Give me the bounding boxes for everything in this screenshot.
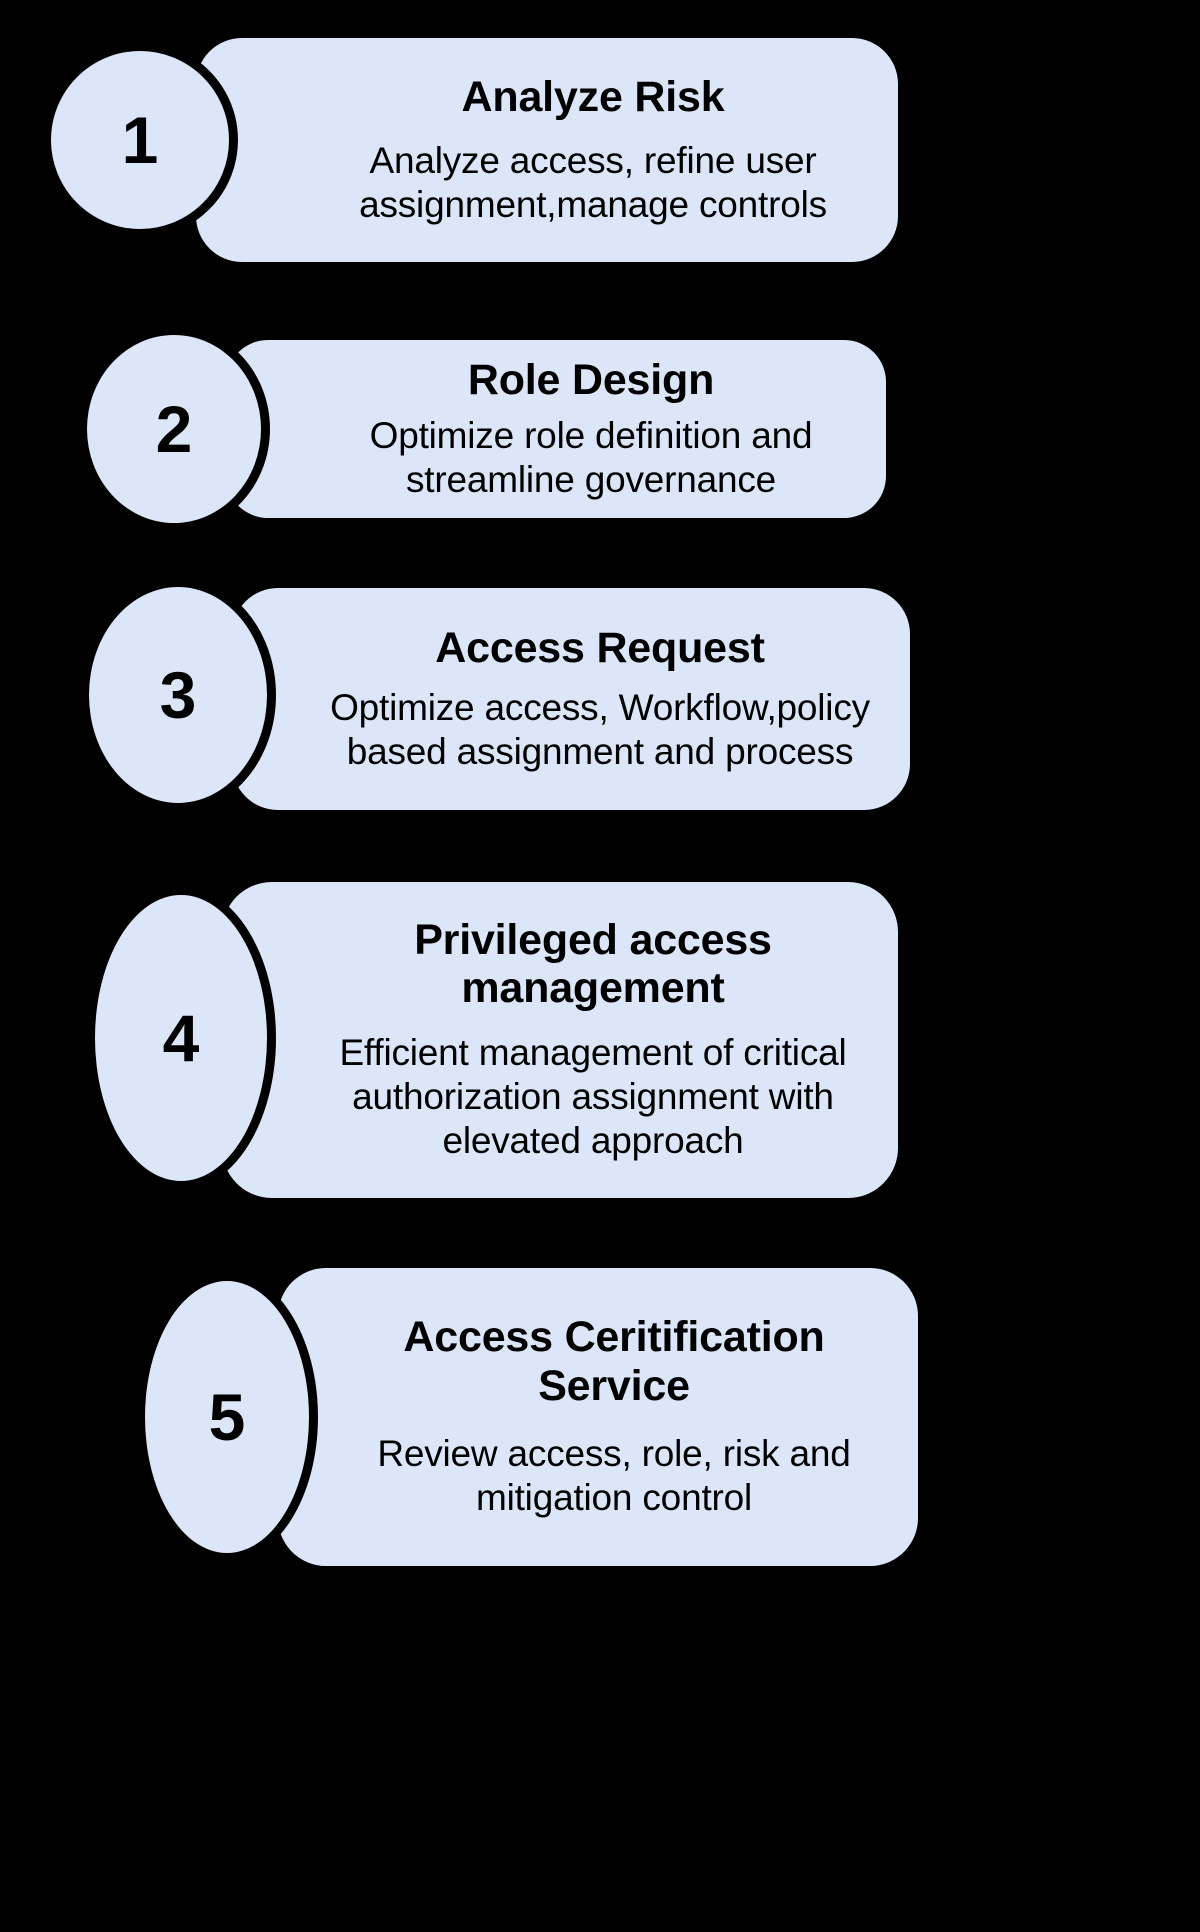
step-number-4: 4: [163, 1005, 200, 1071]
step-description-3: Optimize access, Workflow,policy based a…: [314, 686, 886, 775]
step-title-2: Role Design: [318, 356, 864, 404]
step-title-4: Privileged access management: [363, 916, 823, 1012]
step-badge-5[interactable]: 5: [136, 1272, 318, 1562]
step-description-5: Review access, role, risk and mitigation…: [332, 1432, 896, 1521]
step-title-1: Analyze Risk: [314, 73, 872, 121]
step-description-1: Analyze access, refine user assignment,m…: [314, 139, 872, 228]
step-card-2[interactable]: Role Design Optimize role definition and…: [226, 340, 886, 518]
step-card-4[interactable]: Privileged access management Efficient m…: [222, 882, 898, 1198]
step-badge-3[interactable]: 3: [80, 578, 276, 812]
step-number-1: 1: [122, 107, 159, 173]
diagram-canvas: Analyze Risk Analyze access, refine user…: [0, 0, 1200, 1932]
step-card-3[interactable]: Access Request Optimize access, Workflow…: [232, 588, 910, 810]
step-badge-1[interactable]: 1: [42, 42, 238, 238]
step-card-1[interactable]: Analyze Risk Analyze access, refine user…: [196, 38, 898, 262]
step-badge-2[interactable]: 2: [78, 326, 270, 532]
step-card-5[interactable]: Access Ceritification Service Review acc…: [278, 1268, 918, 1566]
step-title-5: Access Ceritification Service: [364, 1313, 864, 1409]
step-badge-4[interactable]: 4: [86, 886, 276, 1190]
step-number-5: 5: [209, 1384, 246, 1450]
step-title-3: Access Request: [314, 624, 886, 672]
step-number-2: 2: [156, 396, 193, 462]
step-number-3: 3: [160, 662, 197, 728]
step-description-2: Optimize role definition and streamline …: [318, 414, 864, 503]
step-description-4: Efficient management of critical authori…: [314, 1031, 872, 1164]
